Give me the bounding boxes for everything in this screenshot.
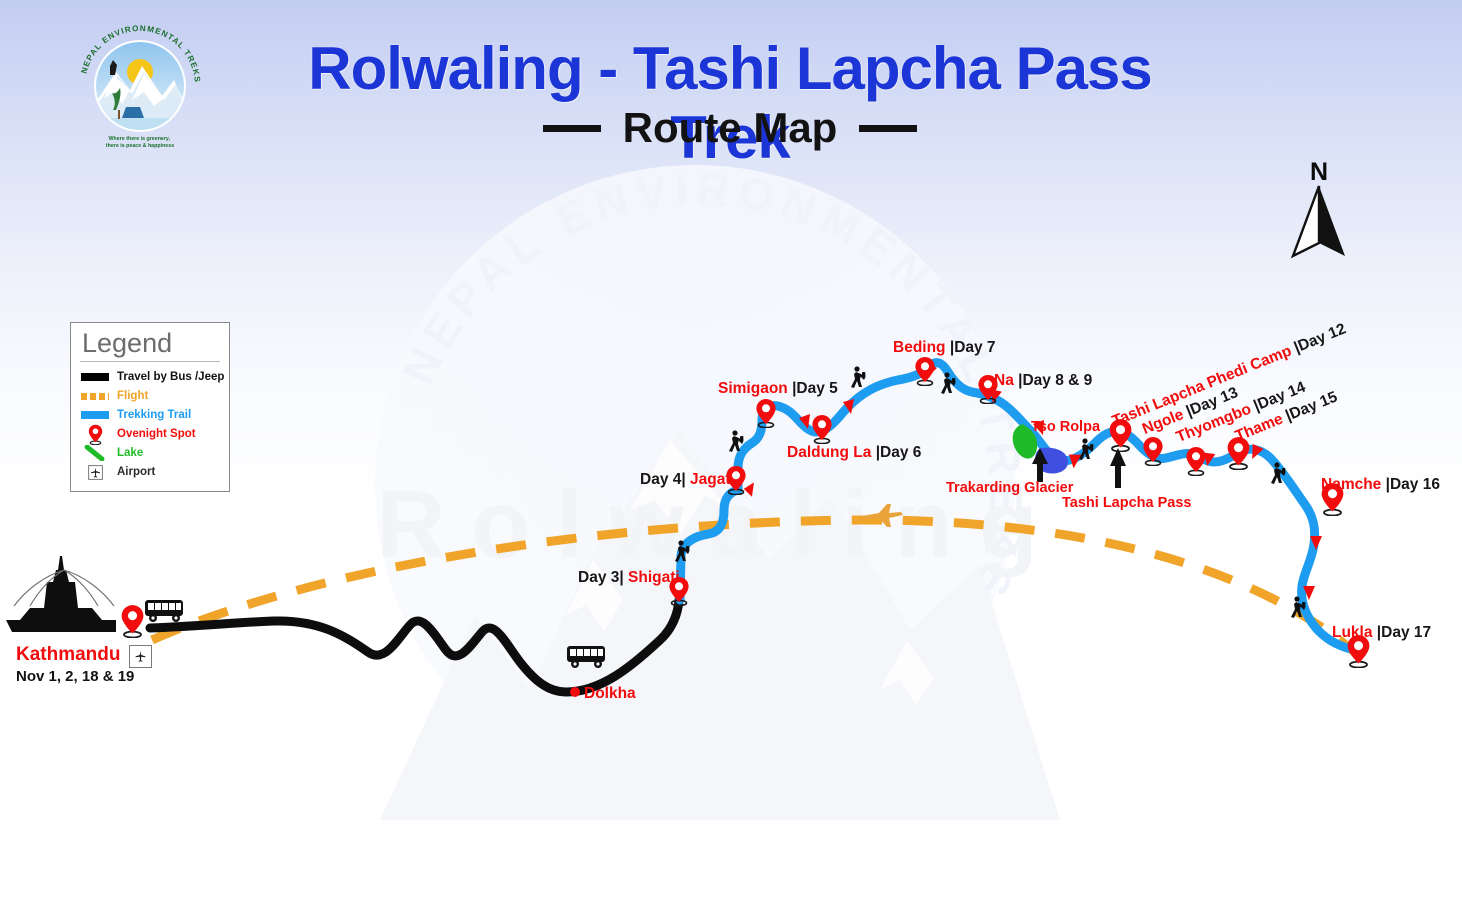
sep: | <box>619 569 623 586</box>
namche-name: Namche <box>1321 476 1381 493</box>
map-pin-daldung-la[interactable] <box>811 414 833 444</box>
map-pin-beding[interactable] <box>914 356 936 386</box>
hiker-icon <box>1076 438 1096 464</box>
na-name: Na <box>994 372 1014 389</box>
label-lukla: Lukla |Day 17 <box>1332 625 1431 641</box>
shigati-day: Day 3 <box>578 569 619 586</box>
label-namche: Namche |Day 16 <box>1321 477 1440 493</box>
label-shigati: Day 3| Shigati <box>578 570 680 586</box>
sep: | <box>681 471 685 488</box>
label-na: Na |Day 8 & 9 <box>994 373 1092 389</box>
jagat-name: Jagat <box>690 471 731 488</box>
airplane-icon <box>859 500 905 530</box>
hiker-icon <box>672 540 692 566</box>
daldung-la-name: Daldung La <box>787 444 871 461</box>
label-trakarding-glacier: Trakarding Glacier <box>946 481 1073 496</box>
kathmandu-dates: Nov 1, 2, 18 & 19 <box>16 668 134 685</box>
simigaon-day: Day 5 <box>796 380 837 397</box>
bus-icon <box>144 598 186 624</box>
shigati-name: Shigati <box>628 569 680 586</box>
label-tso-rolpa: Tso Rolpa <box>1031 420 1100 435</box>
map-pin-simigaon[interactable] <box>755 398 777 428</box>
map-pin-ngole[interactable] <box>1142 436 1164 466</box>
route-map-canvas: NEPAL ENVIRONMENTAL TREKS & EXPEDITION R… <box>0 0 1462 901</box>
beding-name: Beding <box>893 339 946 356</box>
hiker-icon <box>1288 596 1308 622</box>
map-pin-kathmandu[interactable] <box>120 604 145 638</box>
na-day: Day 8 & 9 <box>1022 372 1092 389</box>
label-dolkha: Dolkha <box>584 686 636 702</box>
hiker-icon <box>938 372 958 398</box>
hiker-icon <box>848 366 868 392</box>
hiker-icon <box>726 430 746 456</box>
lukla-name: Lukla <box>1332 624 1372 641</box>
hiker-icon <box>1268 462 1288 488</box>
beding-day: Day 7 <box>954 339 995 356</box>
tashi-lapcha-pass-arrow-icon <box>1110 448 1126 488</box>
bus-icon <box>566 644 608 670</box>
label-kathmandu: Kathmandu Nov 1, 2, 18 & 19 <box>16 644 134 685</box>
label-simigaon: Simigaon |Day 5 <box>718 381 838 397</box>
label-daldung-la: Daldung La |Day 6 <box>787 445 921 461</box>
simigaon-name: Simigaon <box>718 380 788 397</box>
jagat-day: Day 4 <box>640 471 681 488</box>
label-jagat: Day 4| Jagat <box>640 472 731 488</box>
map-dot-dolkha[interactable] <box>570 687 580 697</box>
kathmandu-name: Kathmandu <box>16 644 134 666</box>
namche-day: Day 16 <box>1390 476 1440 493</box>
label-beding: Beding |Day 7 <box>893 340 996 356</box>
map-pin-thyomgbo[interactable] <box>1185 446 1207 476</box>
stupa-icon <box>6 556 116 632</box>
label-tashi-lapcha-pass: Tashi Lapcha Pass <box>1062 496 1191 511</box>
lukla-day: Day 17 <box>1381 624 1431 641</box>
airport-icon[interactable] <box>129 645 152 668</box>
daldung-la-day: Day 6 <box>880 444 921 461</box>
